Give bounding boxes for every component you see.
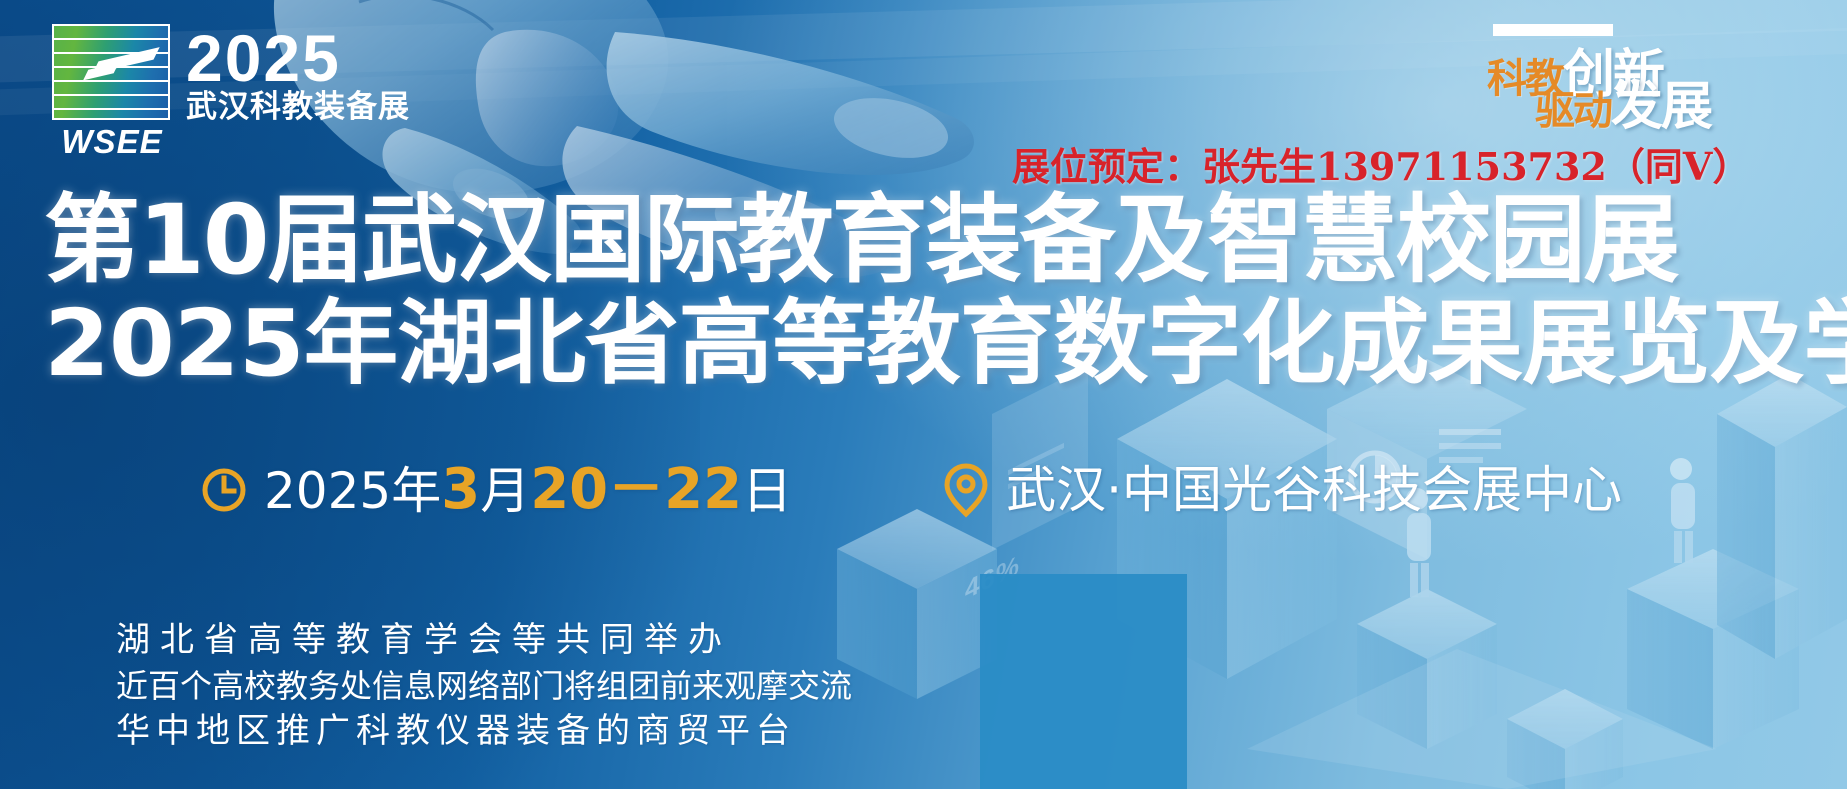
- event-logo[interactable]: WSEE 2025 武汉科教装备展: [52, 24, 410, 158]
- date-day-range: 20－22: [530, 457, 742, 522]
- event-date-text: 2025年3月20－22日: [264, 462, 792, 518]
- event-blurb: 湖北省高等教育学会等共同举办 近百个高校教务处信息网络部门将组团前来观摩交流 华…: [116, 617, 852, 755]
- blurb-line-2: 近百个高校教务处信息网络部门将组团前来观摩交流: [116, 664, 852, 708]
- logo-wordmark: 2025 武汉科教装备展: [186, 24, 410, 123]
- wsee-logo-mark: WSEE: [52, 24, 172, 158]
- date-month-num: 3: [441, 457, 480, 522]
- headline-line-2: 2025年湖北省高等教育数字化成果展览及学术论坛: [44, 298, 1847, 390]
- blurb-line-1: 湖北省高等教育学会等共同举办: [116, 617, 852, 664]
- slogan-fazhan: 发展: [1611, 77, 1711, 137]
- date-year: 2025年: [264, 462, 441, 520]
- logo-abbrev: WSEE: [52, 125, 172, 158]
- clock-icon: [200, 466, 248, 514]
- event-meta-row: 2025年3月20－22日 武汉·中国光谷科技会展中心: [200, 462, 1622, 518]
- booth-booking-contact[interactable]: 展位预定：张先生13971153732（同V）: [1012, 136, 1750, 191]
- flat-blue-panel: [980, 574, 1187, 789]
- location-pin-icon: [942, 462, 990, 518]
- slogan-block: 科教创新 驱动发展: [1487, 14, 1817, 106]
- iso-stat-badge: 46%: [964, 548, 1020, 606]
- headline-block: 第10届武汉国际教育装备及智慧校园展 2025年湖北省高等教育数字化成果展览及学…: [44, 192, 1834, 390]
- logo-square-graphic: [52, 24, 170, 120]
- event-venue: 武汉·中国光谷科技会展中心: [942, 462, 1622, 518]
- event-venue-text: 武汉·中国光谷科技会展中心: [1006, 465, 1622, 515]
- slogan-qudong: 驱动: [1535, 88, 1611, 134]
- headline-line-1: 第10届武汉国际教育装备及智慧校园展: [44, 192, 1834, 288]
- blurb-line-3: 华中地区推广科教仪器装备的商贸平台: [116, 708, 852, 755]
- date-day-unit: 日: [742, 462, 792, 520]
- logo-name-cn: 武汉科教装备展: [186, 91, 410, 124]
- exhibition-banner: 46% WSEE 2025 武汉科教装备展 科教创新: [0, 0, 1847, 789]
- logo-year: 2025: [186, 28, 410, 89]
- slogan-row-2: 驱动发展: [1535, 64, 1711, 139]
- date-month-unit: 月: [480, 462, 530, 520]
- event-date: 2025年3月20－22日: [200, 462, 792, 518]
